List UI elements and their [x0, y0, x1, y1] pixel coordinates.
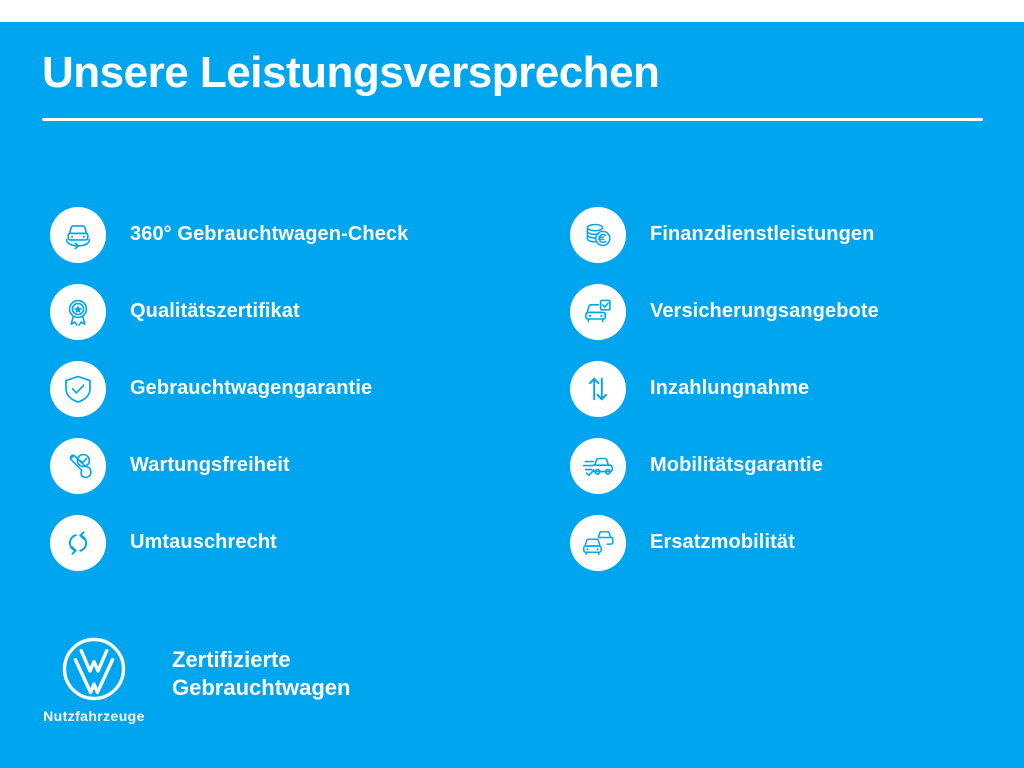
list-item-label: Inzahlungnahme: [650, 377, 809, 400]
list-item[interactable]: Umtauschrecht: [50, 504, 570, 581]
volkswagen-logo-icon: Nutzfahrzeuge: [42, 636, 146, 724]
list-item-label: Gebrauchtwagengarantie: [130, 377, 372, 400]
title-block: Unsere Leistungsversprechen: [42, 50, 984, 121]
list-item[interactable]: Wartungsfreiheit: [50, 427, 570, 504]
promises-columns: 360° Gebrauchtwagen-Check Qualitätszerti…: [50, 196, 990, 581]
arrows-up-down-icon: [570, 361, 626, 417]
list-item-label: Versicherungsangebote: [650, 300, 879, 323]
list-item[interactable]: Versicherungsangebote: [570, 273, 990, 350]
coins-euro-icon: [570, 207, 626, 263]
list-item[interactable]: Finanzdienstleistungen: [570, 196, 990, 273]
list-item[interactable]: Ersatzmobilität: [570, 504, 990, 581]
page-title: Unsere Leistungsversprechen: [42, 50, 984, 96]
list-item-label: 360° Gebrauchtwagen-Check: [130, 223, 408, 246]
title-divider: [42, 118, 983, 121]
list-item-label: Mobilitätsgarantie: [650, 454, 823, 477]
list-item[interactable]: 360° Gebrauchtwagen-Check: [50, 196, 570, 273]
list-item[interactable]: Qualitätszertifikat: [50, 273, 570, 350]
wrench-check-icon: [50, 438, 106, 494]
brand-block: Nutzfahrzeuge Zertifizierte Gebrauchtwag…: [42, 636, 350, 724]
brand-sub-label: Nutzfahrzeuge: [43, 708, 145, 724]
promises-column-left: 360° Gebrauchtwagen-Check Qualitätszerti…: [50, 196, 570, 581]
exchange-arrows-icon: [50, 515, 106, 571]
promises-column-right: Finanzdienstleistungen Versicheru: [570, 196, 990, 581]
car-checkbox-icon: [570, 284, 626, 340]
list-item-label: Qualitätszertifikat: [130, 300, 300, 323]
brand-claim-line-2: Gebrauchtwagen: [172, 674, 350, 702]
award-rosette-icon: [50, 284, 106, 340]
slide-root: Unsere Leistungsversprechen: [0, 0, 1024, 768]
list-item-label: Umtauschrecht: [130, 531, 277, 554]
list-item-label: Ersatzmobilität: [650, 531, 795, 554]
list-item[interactable]: Mobilitätsgarantie: [570, 427, 990, 504]
shield-check-icon: [50, 361, 106, 417]
brand-claim: Zertifizierte Gebrauchtwagen: [172, 646, 350, 702]
two-cars-icon: [570, 515, 626, 571]
list-item-label: Finanzdienstleistungen: [650, 223, 874, 246]
car-360-check-icon: [50, 207, 106, 263]
list-item[interactable]: Gebrauchtwagengarantie: [50, 350, 570, 427]
list-item[interactable]: Inzahlungnahme: [570, 350, 990, 427]
top-white-bleed: [0, 0, 1024, 22]
brand-claim-line-1: Zertifizierte: [172, 646, 350, 674]
list-item-label: Wartungsfreiheit: [130, 454, 290, 477]
car-motion-icon: [570, 438, 626, 494]
